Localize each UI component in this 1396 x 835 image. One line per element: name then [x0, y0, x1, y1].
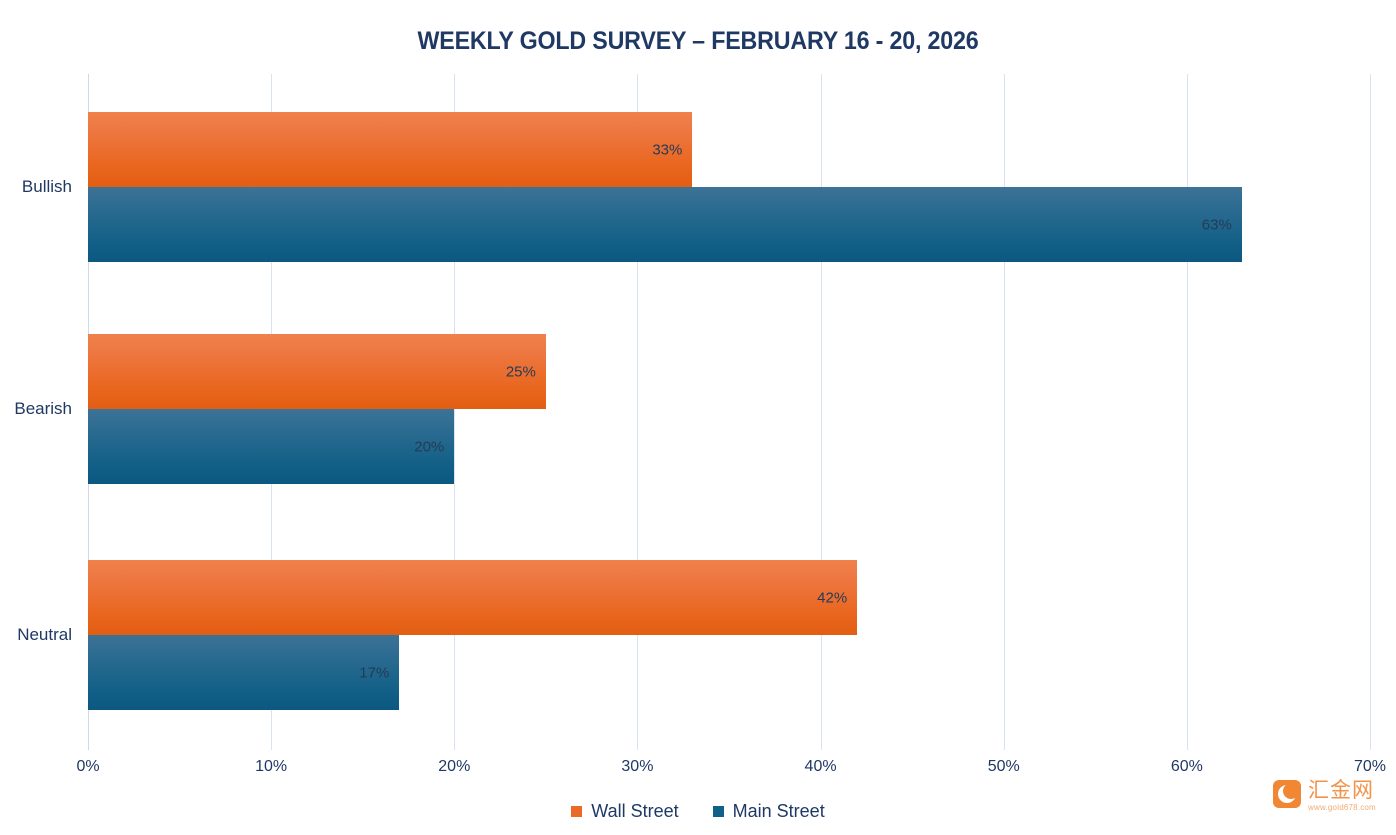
chart-legend: Wall StreetMain Street — [0, 801, 1396, 822]
bar-value-label: 63% — [1202, 216, 1232, 233]
legend-item-wall-street[interactable]: Wall Street — [571, 801, 678, 822]
bar-value-label: 33% — [652, 141, 682, 158]
bar-neutral-wall-street: 42% — [88, 560, 857, 635]
bar-bearish-wall-street: 25% — [88, 334, 546, 409]
bar-value-label: 42% — [817, 589, 847, 606]
watermark-text: 汇金网 www.gold678.com — [1308, 780, 1376, 812]
gridline — [1370, 74, 1371, 750]
x-tick-label: 0% — [76, 758, 99, 776]
plot-area: 33%63%25%20%42%17% — [88, 74, 1370, 750]
x-tick-label: 70% — [1354, 758, 1386, 776]
watermark-url: www.gold678.com — [1308, 804, 1376, 812]
category-label-bearish: Bearish — [0, 399, 72, 419]
bars-layer: 33%63%25%20%42%17% — [88, 74, 1370, 750]
legend-item-main-street[interactable]: Main Street — [713, 801, 825, 822]
legend-label: Wall Street — [591, 801, 678, 822]
bar-value-label: 20% — [414, 438, 444, 455]
bar-neutral-main-street: 17% — [88, 635, 399, 710]
bar-bullish-main-street: 63% — [88, 187, 1242, 262]
watermark-site-name: 汇金网 — [1308, 780, 1376, 801]
watermark: 汇金网 www.gold678.com — [1273, 780, 1376, 812]
x-tick-label: 60% — [1171, 758, 1203, 776]
bar-value-label: 25% — [506, 363, 536, 380]
x-tick-label: 40% — [805, 758, 837, 776]
legend-swatch-icon — [713, 806, 724, 817]
category-label-neutral: Neutral — [0, 625, 72, 645]
x-axis-tick-labels: 0%10%20%30%40%50%60%70% — [0, 758, 1396, 784]
x-tick-label: 10% — [255, 758, 287, 776]
x-tick-label: 50% — [988, 758, 1020, 776]
weekly-gold-survey-chart: WEEKLY GOLD SURVEY – FEBRUARY 16 - 20, 2… — [0, 0, 1396, 835]
legend-swatch-icon — [571, 806, 582, 817]
category-axis-labels: BullishBearishNeutral — [0, 74, 72, 750]
bar-bullish-wall-street: 33% — [88, 112, 692, 187]
chart-title: WEEKLY GOLD SURVEY – FEBRUARY 16 - 20, 2… — [49, 27, 1347, 56]
bar-value-label: 17% — [359, 664, 389, 681]
x-tick-label: 30% — [621, 758, 653, 776]
category-label-bullish: Bullish — [0, 177, 72, 197]
x-tick-label: 20% — [438, 758, 470, 776]
legend-label: Main Street — [733, 801, 825, 822]
bar-bearish-main-street: 20% — [88, 409, 454, 484]
watermark-logo-icon — [1273, 780, 1301, 808]
